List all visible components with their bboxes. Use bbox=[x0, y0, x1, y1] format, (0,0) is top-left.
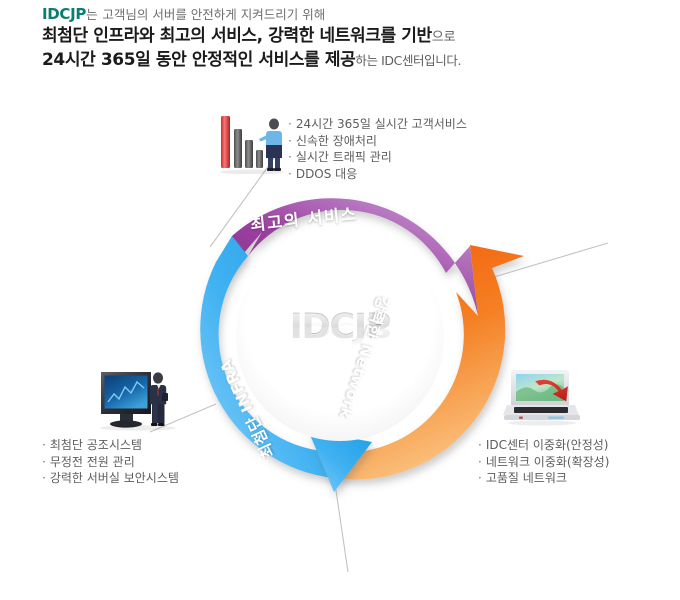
list-item: 24시간 365일 실시간 고객서비스 bbox=[288, 116, 467, 133]
list-item: 신속한 장애처리 bbox=[288, 133, 467, 150]
center-disc bbox=[236, 233, 444, 441]
list-item: 무정전 전원 관리 bbox=[42, 454, 179, 471]
list-item: 실시간 트래픽 관리 bbox=[288, 149, 467, 166]
bar-chart-presenter-icon bbox=[218, 112, 288, 174]
monitor-businessman-icon bbox=[96, 366, 180, 432]
list-item: 고품질 네트워크 bbox=[478, 470, 609, 487]
laptop-refresh-arrow-icon bbox=[502, 366, 582, 428]
cycle-diagram-svg bbox=[0, 0, 680, 600]
bullet-list-infra: 최첨단 공조시스템 무정전 전원 관리 강력한 서버실 보안시스템 bbox=[42, 437, 179, 487]
list-item: 최첨단 공조시스템 bbox=[42, 437, 179, 454]
list-item: 네트워크 이중화(확장성) bbox=[478, 454, 609, 471]
cycle-diagram: IDCJP IDCJP 최고의 서비스 강력한 Network 최첨단 INFR… bbox=[0, 0, 680, 600]
bullet-list-service: 24시간 365일 실시간 고객서비스 신속한 장애처리 실시간 트래픽 관리 … bbox=[288, 116, 467, 182]
list-item: DDOS 대응 bbox=[288, 166, 467, 183]
list-item: 강력한 서버실 보안시스템 bbox=[42, 470, 179, 487]
bullet-list-network: IDC센터 이중화(안정성) 네트워크 이중화(확장성) 고품질 네트워크 bbox=[478, 437, 609, 487]
list-item: IDC센터 이중화(안정성) bbox=[478, 437, 609, 454]
